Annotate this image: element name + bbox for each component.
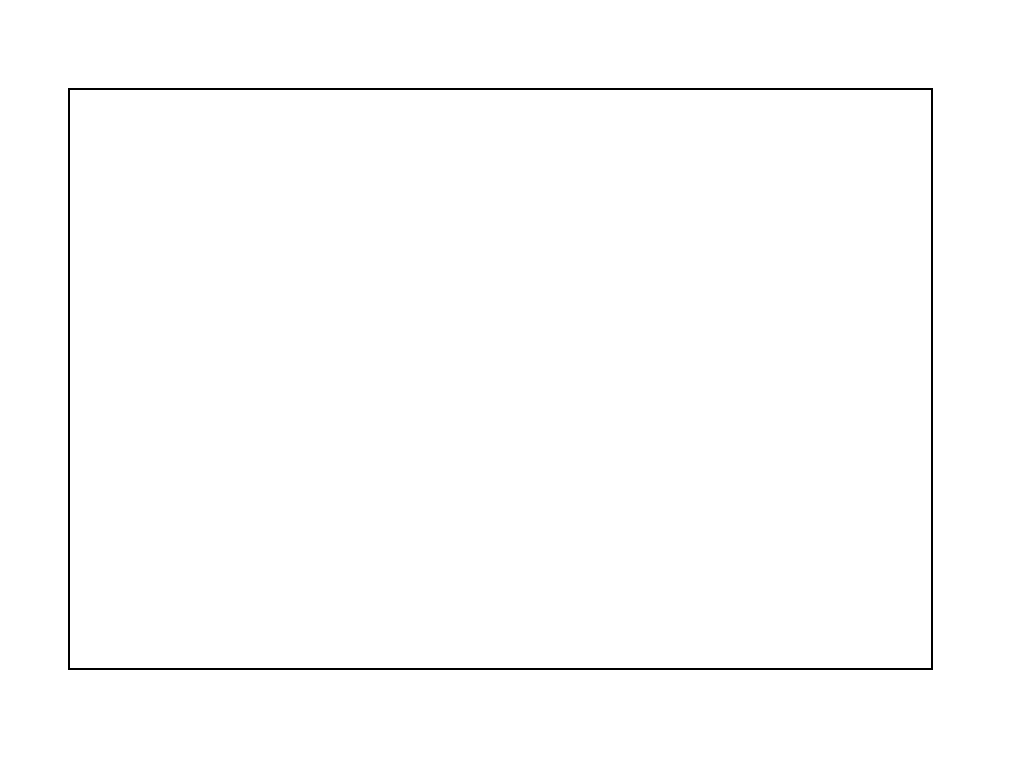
terrain-fill-layer xyxy=(70,90,931,668)
chart-page xyxy=(0,0,1024,768)
colorbar-legend xyxy=(941,300,1023,495)
heatmap-plot-area xyxy=(68,88,933,670)
